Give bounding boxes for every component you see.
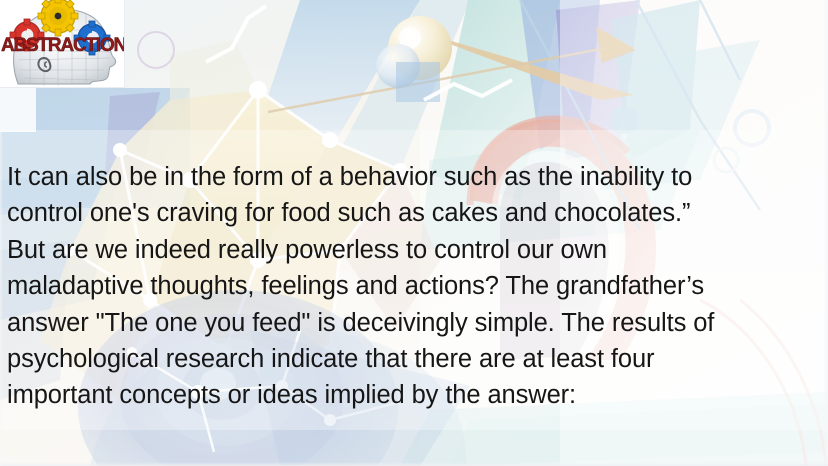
body-line: answer "The one you feed" is deceivingly… xyxy=(7,305,819,341)
slide-edge-right xyxy=(823,0,828,466)
presentation-slide: ABSTRACTION It can also be in the form o… xyxy=(0,0,828,466)
body-line: But are we indeed really powerless to co… xyxy=(7,232,819,268)
body-line: important concepts or ideas implied by t… xyxy=(7,377,819,413)
body-line: control one's craving for food such as c… xyxy=(7,195,819,231)
abstraction-head-gears-graphic: ABSTRACTION xyxy=(0,0,125,88)
body-line: psychological research indicate that the… xyxy=(7,341,819,377)
abstraction-logo-image: ABSTRACTION xyxy=(0,0,125,88)
slide-edge-bottom xyxy=(0,462,828,466)
slide-body-text: It can also be in the form of a behavior… xyxy=(7,159,819,414)
yellow-gear xyxy=(38,0,78,36)
abstraction-word-text: ABSTRACTION xyxy=(1,35,125,56)
body-line: maladaptive thoughts, feelings and actio… xyxy=(7,268,819,304)
body-line: It can also be in the form of a behavior… xyxy=(7,159,819,195)
